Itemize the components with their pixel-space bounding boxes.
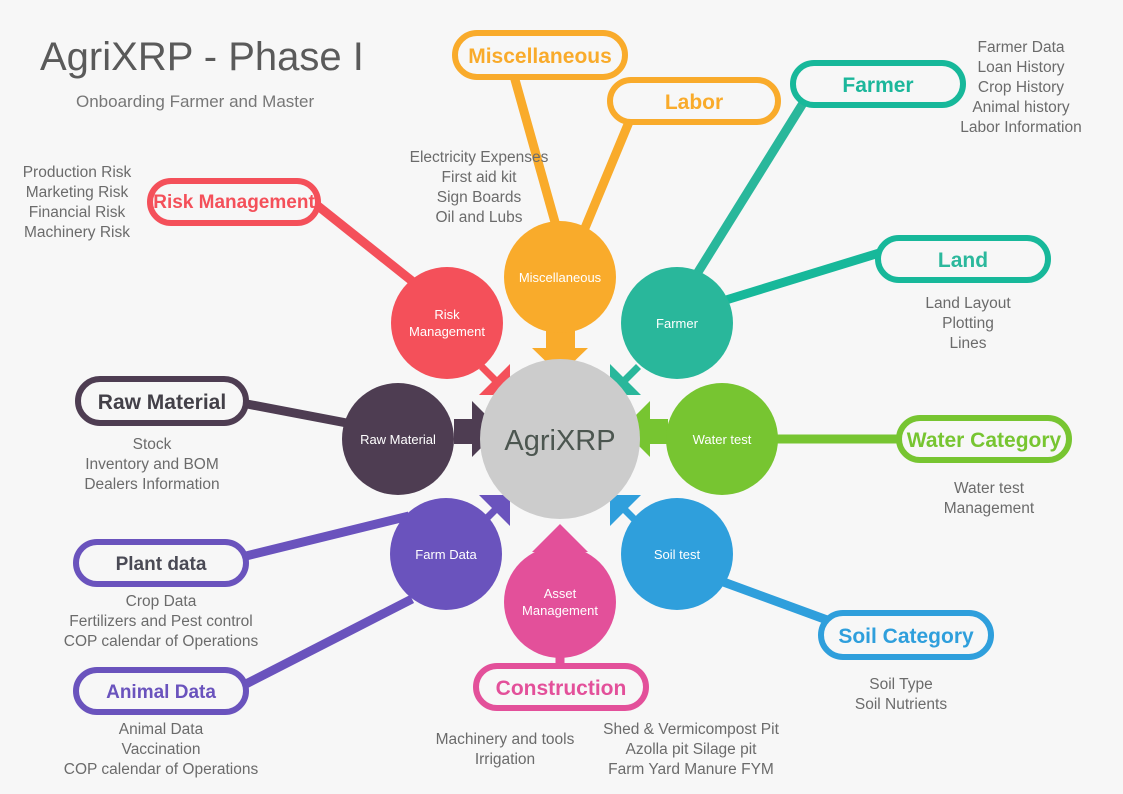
note-line: COP calendar of Operations <box>64 633 259 650</box>
note-line: Fertilizers and Pest control <box>69 613 253 630</box>
node-label: Raw Material <box>360 432 436 447</box>
connector-soil-category <box>718 580 838 624</box>
connector-labor <box>580 122 629 240</box>
note-line: Production Risk <box>23 164 132 181</box>
node-farm-data[interactable]: Farm Data <box>390 498 502 610</box>
note-line: Financial Risk <box>29 204 126 221</box>
note-line: Lines <box>949 335 986 352</box>
pill-label: Soil Category <box>838 625 974 648</box>
connector-animal-data <box>244 599 412 685</box>
notes-risk: Production Risk Marketing Risk Financial… <box>23 164 132 241</box>
note-line: Farmer Data <box>978 39 1065 56</box>
note-line: Soil Nutrients <box>855 696 947 713</box>
pill-risk-management[interactable]: Risk Management <box>150 181 318 223</box>
note-line: COP calendar of Operations <box>64 761 259 778</box>
page-subtitle: Onboarding Farmer and Master <box>76 92 314 111</box>
notes-animal-data: Animal Data Vaccination COP calendar of … <box>64 721 259 778</box>
note-line: Machinery Risk <box>24 224 130 241</box>
agrixrp-phase-1-diagram: AgriXRP - Phase I Onboarding Farmer and … <box>0 0 1123 794</box>
node-label-line2: Management <box>409 324 485 339</box>
pill-farmer[interactable]: Farmer <box>793 63 963 105</box>
notes-soil-category: Soil Type Soil Nutrients <box>855 676 947 713</box>
connector-raw-material <box>247 404 352 424</box>
note-line: Inventory and BOM <box>85 456 219 473</box>
notes-plant-data: Crop Data Fertilizers and Pest control C… <box>64 593 259 650</box>
pill-label: Construction <box>496 677 627 700</box>
note-line: Water test <box>954 480 1025 497</box>
note-line: Plotting <box>942 315 994 332</box>
note-line: Animal history <box>972 99 1070 116</box>
notes-water-category: Water test Management <box>944 480 1035 517</box>
node-label: Soil test <box>654 547 701 562</box>
note-line: Dealers Information <box>84 476 219 493</box>
node-label: Farmer <box>656 316 699 331</box>
connector-risk-management <box>318 206 412 281</box>
pill-land[interactable]: Land <box>878 238 1048 280</box>
pill-label: Labor <box>665 91 723 114</box>
note-line: Farm Yard Manure FYM <box>608 761 774 778</box>
note-line: Sign Boards <box>437 189 522 206</box>
note-line: Oil and Lubs <box>435 209 522 226</box>
node-label-line1: Risk <box>434 307 460 322</box>
pill-animal-data[interactable]: Animal Data <box>76 670 246 712</box>
node-label: Miscellaneous <box>519 270 602 285</box>
node-circle[interactable] <box>504 546 616 658</box>
connector-plant-data <box>246 516 409 556</box>
pill-label: Plant data <box>116 554 207 575</box>
notes-construction-right: Shed & Vermicompost Pit Azolla pit Silag… <box>603 721 779 778</box>
pill-label: Farmer <box>842 74 913 97</box>
note-line: Machinery and tools <box>436 731 575 748</box>
notes-construction-left: Machinery and tools Irrigation <box>436 731 575 768</box>
node-asset-management[interactable]: Asset Management <box>504 546 616 658</box>
note-line: Crop Data <box>126 593 197 610</box>
pill-construction[interactable]: Construction <box>476 666 646 708</box>
pill-label: Animal Data <box>106 682 216 703</box>
note-line: Vaccination <box>122 741 201 758</box>
notes-farmer: Farmer Data Loan History Crop History An… <box>960 39 1082 136</box>
node-raw-material[interactable]: Raw Material <box>342 383 454 495</box>
note-line: Management <box>944 500 1035 517</box>
pill-label: Water Category <box>907 429 1062 452</box>
node-label: Water test <box>693 432 752 447</box>
node-label-line1: Asset <box>544 586 577 601</box>
node-circle[interactable] <box>391 267 503 379</box>
connector-farmer <box>690 100 805 285</box>
note-line: Crop History <box>978 79 1064 96</box>
notes-miscellaneous: Electricity Expenses First aid kit Sign … <box>410 149 549 226</box>
notes-raw-material: Stock Inventory and BOM Dealers Informat… <box>84 436 219 493</box>
node-label: Farm Data <box>415 547 477 562</box>
note-line: Shed & Vermicompost Pit <box>603 721 779 738</box>
node-label-line2: Management <box>522 603 598 618</box>
note-line: Azolla pit Silage pit <box>626 741 758 758</box>
pill-label: Miscellaneous <box>468 45 612 68</box>
page-title: AgriXRP - Phase I <box>40 35 364 79</box>
hub[interactable]: AgriXRP <box>480 359 640 519</box>
pill-label: Land <box>938 249 988 272</box>
pill-soil-category[interactable]: Soil Category <box>821 613 991 657</box>
pill-miscellaneous[interactable]: Miscellaneous <box>455 33 625 77</box>
note-line: Animal Data <box>119 721 204 738</box>
connector-land <box>726 250 889 300</box>
pill-water-category[interactable]: Water Category <box>899 418 1069 460</box>
note-line: Loan History <box>977 59 1064 76</box>
note-line: Labor Information <box>960 119 1082 136</box>
node-miscellaneous[interactable]: Miscellaneous <box>504 221 616 333</box>
hub-label: AgriXRP <box>504 425 615 457</box>
pill-plant-data[interactable]: Plant data <box>76 542 246 584</box>
notes-land: Land Layout Plotting Lines <box>925 295 1011 352</box>
pill-raw-material[interactable]: Raw Material <box>78 379 246 423</box>
node-soil-test[interactable]: Soil test <box>621 498 733 610</box>
note-line: Soil Type <box>869 676 932 693</box>
pill-label: Risk Management <box>153 192 315 213</box>
note-line: Stock <box>133 436 172 453</box>
note-line: Electricity Expenses <box>410 149 549 166</box>
node-water-test[interactable]: Water test <box>666 383 778 495</box>
note-line: Irrigation <box>475 751 535 768</box>
note-line: First aid kit <box>442 169 518 186</box>
pill-label: Raw Material <box>98 391 226 414</box>
note-line: Marketing Risk <box>26 184 129 201</box>
node-risk-management[interactable]: Risk Management <box>391 267 503 379</box>
pill-labor[interactable]: Labor <box>610 80 778 122</box>
node-farmer[interactable]: Farmer <box>621 267 733 379</box>
note-line: Land Layout <box>925 295 1011 312</box>
